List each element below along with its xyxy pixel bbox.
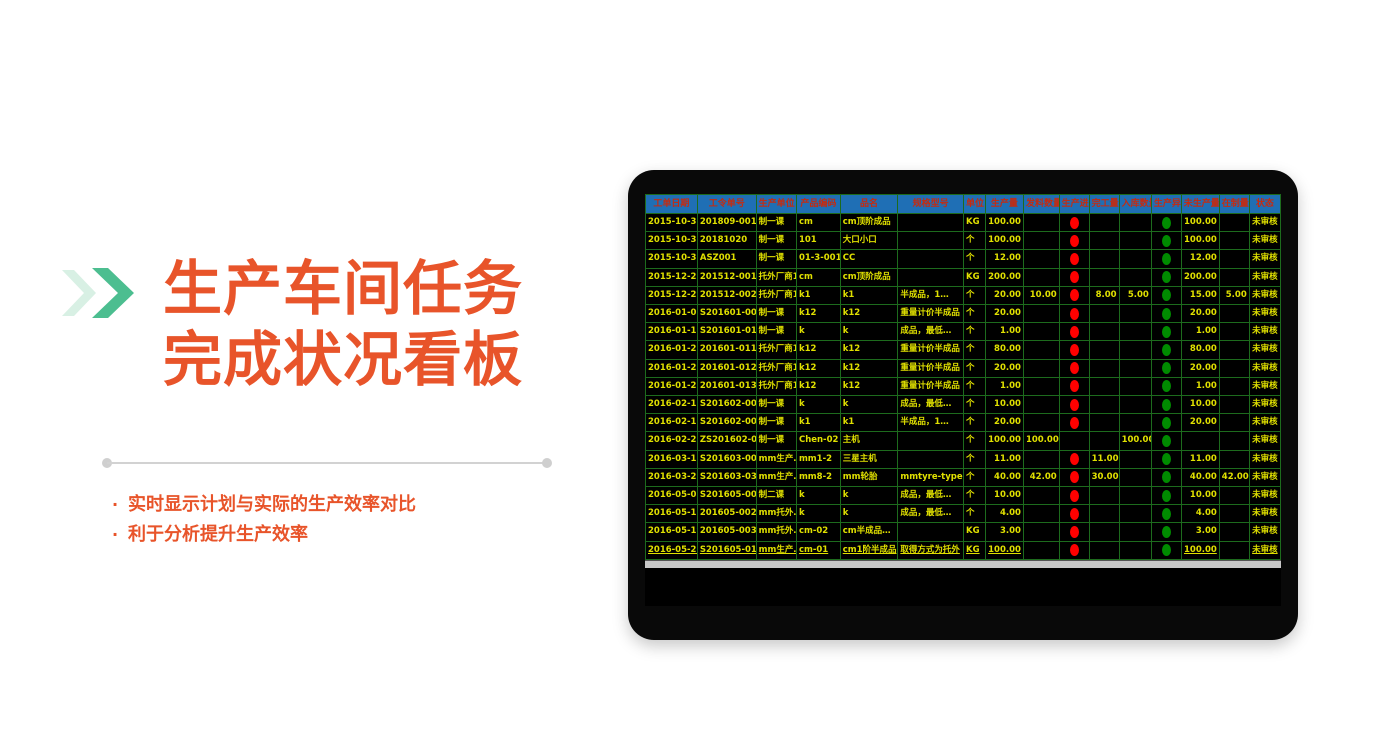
table-row[interactable]: 2015-10-3120181020制一课101大口小口个100.00100.0… — [646, 232, 1281, 250]
cell-unproduced-qty: 100.00 — [1181, 541, 1219, 559]
cell-issued-qty — [1023, 414, 1059, 432]
cell-qty: 200.00 — [985, 268, 1023, 286]
cell-wip-qty — [1219, 323, 1249, 341]
table-row[interactable]: 2016-01-13S201601-011制一课kk成品，最低…个1.001.0… — [646, 323, 1281, 341]
cell-product-name: k12 — [840, 341, 898, 359]
green-lamp-icon — [1162, 435, 1171, 447]
abnormal-lamp-cell — [1151, 396, 1181, 414]
cell-spec: 成品，最低… — [898, 505, 964, 523]
cell-date: 2016-01-25 — [646, 359, 698, 377]
abnormal-lamp-cell — [1151, 541, 1181, 559]
cell-product-code: k12 — [796, 359, 840, 377]
cell-qty: 1.00 — [985, 377, 1023, 395]
cell-unproduced-qty: 20.00 — [1181, 359, 1219, 377]
cell-uom: 个 — [964, 450, 986, 468]
column-header[interactable]: 规格型号 — [898, 195, 964, 214]
cell-product-code: cm-01 — [796, 541, 840, 559]
column-header[interactable]: 工单日期 — [646, 195, 698, 214]
abnormal-lamp-cell — [1151, 286, 1181, 304]
cell-unit: mm托外… — [756, 523, 796, 541]
green-lamp-icon — [1162, 544, 1171, 556]
progress-lamp-cell — [1059, 505, 1089, 523]
cell-product-code: k12 — [796, 377, 840, 395]
table-row[interactable]: 2015-12-25201512-001托外厂商1cmcm顶阶成品KG200.0… — [646, 268, 1281, 286]
red-lamp-icon — [1070, 235, 1079, 247]
cell-issued-qty — [1023, 505, 1059, 523]
cell-stock-qty — [1119, 396, 1151, 414]
cell-wip-qty — [1219, 268, 1249, 286]
cell-unproduced-qty: 4.00 — [1181, 505, 1219, 523]
cell-finished-qty — [1089, 232, 1119, 250]
cell-unit: 制一课 — [756, 214, 796, 232]
cell-wip-qty — [1219, 414, 1249, 432]
cell-order-no: 201605-003 — [697, 523, 756, 541]
cell-uom: 个 — [964, 323, 986, 341]
cell-order-no: S201605-011 — [697, 541, 756, 559]
cell-unproduced-qty: 200.00 — [1181, 268, 1219, 286]
green-lamp-icon — [1162, 235, 1171, 247]
cell-finished-qty — [1089, 214, 1119, 232]
cell-spec — [898, 232, 964, 250]
cell-stock-qty — [1119, 487, 1151, 505]
list-item-label: 利于分析提升生产效率 — [128, 520, 308, 550]
cell-finished-qty — [1089, 523, 1119, 541]
red-lamp-icon — [1070, 253, 1079, 265]
cell-order-no: 201809-001 — [697, 214, 756, 232]
column-header[interactable]: 产品编码 — [796, 195, 840, 214]
cell-product-name: cm顶阶成品 — [840, 268, 898, 286]
table-row[interactable]: 2015-10-31201809-001制一课cmcm顶阶成品KG100.001… — [646, 214, 1281, 232]
cell-unit: 制一课 — [756, 414, 796, 432]
abnormal-lamp-cell — [1151, 468, 1181, 486]
cell-product-name: mm轮胎 — [840, 468, 898, 486]
bullet-icon: · — [112, 490, 128, 520]
bullet-icon: · — [112, 520, 128, 550]
table-row[interactable]: 2016-01-25201601-012托外厂商1k12k12重量计价半成品个2… — [646, 359, 1281, 377]
progress-lamp-cell — [1059, 305, 1089, 323]
cell-issued-qty — [1023, 450, 1059, 468]
green-lamp-icon — [1162, 344, 1171, 356]
cell-date: 2016-02-15 — [646, 414, 698, 432]
cell-uom: 个 — [964, 359, 986, 377]
cell-product-name: cm1阶半成品 — [840, 541, 898, 559]
green-lamp-icon — [1162, 526, 1171, 538]
table-row[interactable]: 2016-02-15S201602-006制一课kk成品，最低…个10.0010… — [646, 396, 1281, 414]
cell-date: 2016-01-08 — [646, 305, 698, 323]
abnormal-lamp-cell — [1151, 214, 1181, 232]
table-row[interactable]: 2016-05-16201605-002mm托外…kk成品，最低…个4.004.… — [646, 505, 1281, 523]
progress-lamp-cell — [1059, 487, 1089, 505]
green-lamp-icon — [1162, 490, 1171, 502]
column-header[interactable]: 生产单位 — [756, 195, 796, 214]
table-row[interactable]: 2016-01-25201601-011托外厂商1k12k12重量计价半成品个8… — [646, 341, 1281, 359]
cell-product-name: k12 — [840, 359, 898, 377]
cell-product-name: 三星主机 — [840, 450, 898, 468]
cell-unit: mm生产… — [756, 541, 796, 559]
progress-lamp-cell — [1059, 377, 1089, 395]
cell-product-code: mm8-2 — [796, 468, 840, 486]
cell-unit: mm托外… — [756, 505, 796, 523]
cell-issued-qty — [1023, 323, 1059, 341]
cell-order-no: 201512-001 — [697, 268, 756, 286]
cell-issued-qty: 10.00 — [1023, 286, 1059, 304]
cell-unit: 制一课 — [756, 432, 796, 450]
cell-product-code: k1 — [796, 414, 840, 432]
cell-product-name: k1 — [840, 286, 898, 304]
column-header[interactable]: 生产异常 — [1151, 195, 1181, 214]
cell-product-code: 01-3-001 — [796, 250, 840, 268]
double-chevron-icon — [62, 266, 140, 320]
cell-unproduced-qty: 100.00 — [1181, 232, 1219, 250]
cell-unit: 托外厂商1 — [756, 359, 796, 377]
cell-qty: 11.00 — [985, 450, 1023, 468]
divider — [102, 458, 552, 468]
cell-finished-qty — [1089, 305, 1119, 323]
cell-qty: 40.00 — [985, 468, 1023, 486]
cell-order-no: 201601-011 — [697, 341, 756, 359]
green-lamp-icon — [1162, 471, 1171, 483]
cell-product-code: Chen-02 — [796, 432, 840, 450]
cell-issued-qty — [1023, 523, 1059, 541]
cell-spec: 成品，最低… — [898, 396, 964, 414]
cell-order-no: 201512-002 — [697, 286, 756, 304]
cell-product-name: k — [840, 323, 898, 341]
cell-product-code: k1 — [796, 286, 840, 304]
cell-finished-qty — [1089, 359, 1119, 377]
abnormal-lamp-cell — [1151, 268, 1181, 286]
cell-stock-qty: 100.00 — [1119, 432, 1151, 450]
red-lamp-icon — [1070, 417, 1079, 429]
cell-spec: 重量计价半成品 — [898, 377, 964, 395]
cell-unit: 托外厂商1 — [756, 377, 796, 395]
cell-uom: 个 — [964, 432, 986, 450]
cell-product-name: cm顶阶成品 — [840, 214, 898, 232]
cell-spec — [898, 214, 964, 232]
cell-stock-qty — [1119, 468, 1151, 486]
abnormal-lamp-cell — [1151, 377, 1181, 395]
cell-date: 2016-02-25 — [646, 432, 698, 450]
cell-stock-qty — [1119, 377, 1151, 395]
cell-unit: 制一课 — [756, 232, 796, 250]
cell-stock-qty — [1119, 450, 1151, 468]
cell-wip-qty — [1219, 487, 1249, 505]
cell-date: 2015-10-31 — [646, 250, 698, 268]
cell-status: 未审核 — [1249, 286, 1280, 304]
cell-status: 未审核 — [1249, 396, 1280, 414]
cell-order-no: S201601-008 — [697, 305, 756, 323]
cell-unit: 制一课 — [756, 305, 796, 323]
cell-issued-qty: 42.00 — [1023, 468, 1059, 486]
cell-qty: 100.00 — [985, 214, 1023, 232]
red-lamp-icon — [1070, 526, 1079, 538]
cell-wip-qty — [1219, 541, 1249, 559]
column-header[interactable]: 工令单号 — [697, 195, 756, 214]
cell-qty: 100.00 — [985, 232, 1023, 250]
cell-product-name: k — [840, 396, 898, 414]
cell-spec: 成品，最低… — [898, 323, 964, 341]
cell-unproduced-qty: 20.00 — [1181, 305, 1219, 323]
cell-spec: 重量计价半成品 — [898, 359, 964, 377]
cell-order-no: 201605-002 — [697, 505, 756, 523]
cell-finished-qty — [1089, 505, 1119, 523]
cell-unproduced-qty: 15.00 — [1181, 286, 1219, 304]
promo-panel: 生产车间任务 完成状况看板 · 实时显示计划与实际的生产效率对比 · 利于分析提… — [0, 0, 620, 753]
red-lamp-icon — [1070, 326, 1079, 338]
cell-uom: 个 — [964, 414, 986, 432]
cell-wip-qty: 42.00 — [1219, 468, 1249, 486]
cell-unproduced-qty — [1181, 432, 1219, 450]
column-header[interactable]: 入库数量 — [1119, 195, 1151, 214]
cell-date: 2016-02-15 — [646, 396, 698, 414]
progress-lamp-cell — [1059, 286, 1089, 304]
cell-uom: 个 — [964, 286, 986, 304]
cell-stock-qty — [1119, 214, 1151, 232]
cell-wip-qty — [1219, 450, 1249, 468]
red-lamp-icon — [1070, 344, 1079, 356]
table-row[interactable]: 2016-01-25201601-013托外厂商1k12k12重量计价半成品个1… — [646, 377, 1281, 395]
cell-issued-qty — [1023, 359, 1059, 377]
red-lamp-icon — [1070, 217, 1079, 229]
cell-product-code: cm — [796, 214, 840, 232]
green-lamp-icon — [1162, 417, 1171, 429]
cell-wip-qty — [1219, 432, 1249, 450]
column-header[interactable]: 生产进度 — [1059, 195, 1089, 214]
column-header[interactable]: 在制量 — [1219, 195, 1249, 214]
cell-stock-qty — [1119, 323, 1151, 341]
table-row[interactable]: 2016-02-15S201602-007制一课k1k1半成品，1…个20.00… — [646, 414, 1281, 432]
column-header[interactable]: 发料数量 — [1023, 195, 1059, 214]
cell-finished-qty — [1089, 268, 1119, 286]
column-header[interactable]: 状态 — [1249, 195, 1280, 214]
cell-product-code: mm1-2 — [796, 450, 840, 468]
table-row[interactable]: 2016-05-06S201605-008制二课kk成品，最低…个10.0010… — [646, 487, 1281, 505]
red-lamp-icon — [1070, 362, 1079, 374]
cell-date: 2016-01-13 — [646, 323, 698, 341]
abnormal-lamp-cell — [1151, 523, 1181, 541]
cell-finished-qty — [1089, 487, 1119, 505]
cell-product-name: k12 — [840, 377, 898, 395]
cell-status: 未审核 — [1249, 414, 1280, 432]
cell-status: 未审核 — [1249, 541, 1280, 559]
cell-stock-qty — [1119, 250, 1151, 268]
green-lamp-icon — [1162, 453, 1171, 465]
cell-wip-qty — [1219, 359, 1249, 377]
cell-qty: 12.00 — [985, 250, 1023, 268]
cell-unproduced-qty: 12.00 — [1181, 250, 1219, 268]
cell-uom: 个 — [964, 341, 986, 359]
cell-unit: 制一课 — [756, 323, 796, 341]
cell-date: 2016-05-19 — [646, 523, 698, 541]
green-lamp-icon — [1162, 362, 1171, 374]
cell-order-no: 20181020 — [697, 232, 756, 250]
green-lamp-icon — [1162, 308, 1171, 320]
table-body: 2015-10-31201809-001制一课cmcm顶阶成品KG100.001… — [646, 214, 1281, 560]
abnormal-lamp-cell — [1151, 432, 1181, 450]
table-row[interactable]: 2015-10-31ASZ001制一课01-3-001CC个12.0012.00… — [646, 250, 1281, 268]
cell-issued-qty — [1023, 377, 1059, 395]
chevron-right-icon — [62, 266, 140, 320]
cell-order-no: S201605-008 — [697, 487, 756, 505]
cell-date: 2015-12-29 — [646, 286, 698, 304]
cell-order-no: 201601-012 — [697, 359, 756, 377]
cell-status: 未审核 — [1249, 214, 1280, 232]
progress-lamp-cell — [1059, 468, 1089, 486]
abnormal-lamp-cell — [1151, 232, 1181, 250]
cell-wip-qty — [1219, 250, 1249, 268]
cell-finished-qty: 11.00 — [1089, 450, 1119, 468]
cell-uom: KG — [964, 268, 986, 286]
cell-unproduced-qty: 100.00 — [1181, 214, 1219, 232]
cell-product-name: k — [840, 505, 898, 523]
cell-product-name: 主机 — [840, 432, 898, 450]
cell-unproduced-qty: 20.00 — [1181, 414, 1219, 432]
feature-list: · 实时显示计划与实际的生产效率对比 · 利于分析提升生产效率 — [112, 490, 582, 550]
cell-product-code: k12 — [796, 305, 840, 323]
abnormal-lamp-cell — [1151, 250, 1181, 268]
tablet-device-frame: 工单日期工令单号生产单位产品编码品名规格型号单位生产量发料数量生产进度完工量入库… — [628, 170, 1298, 640]
cell-status: 未审核 — [1249, 523, 1280, 541]
cell-order-no: S201602-006 — [697, 396, 756, 414]
cell-wip-qty — [1219, 305, 1249, 323]
cell-unit: mm生产… — [756, 450, 796, 468]
red-lamp-icon — [1070, 289, 1079, 301]
progress-lamp-cell — [1059, 432, 1089, 450]
column-header[interactable]: 完工量 — [1089, 195, 1119, 214]
progress-lamp-cell — [1059, 541, 1089, 559]
cell-date: 2015-10-31 — [646, 214, 698, 232]
table-row[interactable]: 2016-02-25ZS201602-004制一课Chen-02主机个100.0… — [646, 432, 1281, 450]
cell-wip-qty — [1219, 341, 1249, 359]
cell-spec: 取得方式为托外 — [898, 541, 964, 559]
cell-spec — [898, 250, 964, 268]
green-lamp-icon — [1162, 380, 1171, 392]
red-lamp-icon — [1070, 490, 1079, 502]
cell-date: 2015-12-25 — [646, 268, 698, 286]
cell-product-code: 101 — [796, 232, 840, 250]
table-row[interactable]: 2016-03-18S201603-006mm生产…mm1-2三星主机个11.0… — [646, 450, 1281, 468]
cell-wip-qty: 5.00 — [1219, 286, 1249, 304]
cell-stock-qty — [1119, 359, 1151, 377]
cell-order-no: ASZ001 — [697, 250, 756, 268]
cell-uom: 个 — [964, 377, 986, 395]
progress-lamp-cell — [1059, 359, 1089, 377]
table-header-row: 工单日期工令单号生产单位产品编码品名规格型号单位生产量发料数量生产进度完工量入库… — [646, 195, 1281, 214]
green-lamp-icon — [1162, 271, 1171, 283]
horizontal-scrollbar[interactable] — [645, 560, 1281, 568]
cell-product-code: k — [796, 505, 840, 523]
progress-lamp-cell — [1059, 341, 1089, 359]
cell-uom: KG — [964, 523, 986, 541]
column-header[interactable]: 单位 — [964, 195, 986, 214]
cell-spec: 重量计价半成品 — [898, 341, 964, 359]
cell-issued-qty — [1023, 268, 1059, 286]
production-dashboard-table: 工单日期工令单号生产单位产品编码品名规格型号单位生产量发料数量生产进度完工量入库… — [645, 194, 1281, 560]
cell-uom: 个 — [964, 505, 986, 523]
cell-status: 未审核 — [1249, 323, 1280, 341]
page-title: 生产车间任务 完成状况看板 — [163, 254, 603, 396]
cell-finished-qty — [1089, 414, 1119, 432]
cell-finished-qty — [1089, 341, 1119, 359]
green-lamp-icon — [1162, 399, 1171, 411]
cell-wip-qty — [1219, 396, 1249, 414]
abnormal-lamp-cell — [1151, 450, 1181, 468]
divider-bar — [107, 462, 547, 464]
cell-uom: 个 — [964, 232, 986, 250]
cell-stock-qty — [1119, 414, 1151, 432]
cell-status: 未审核 — [1249, 341, 1280, 359]
cell-spec: 重量计价半成品 — [898, 305, 964, 323]
cell-stock-qty — [1119, 541, 1151, 559]
cell-spec — [898, 450, 964, 468]
progress-lamp-cell — [1059, 414, 1089, 432]
cell-status: 未审核 — [1249, 232, 1280, 250]
green-lamp-icon — [1162, 508, 1171, 520]
cell-unit: 制一课 — [756, 396, 796, 414]
cell-qty: 10.00 — [985, 396, 1023, 414]
cell-stock-qty — [1119, 305, 1151, 323]
table-row[interactable]: 2016-05-23S201605-011mm生产…cm-01cm1阶半成品取得… — [646, 541, 1281, 559]
column-header[interactable]: 生产量 — [985, 195, 1023, 214]
cell-status: 未审核 — [1249, 468, 1280, 486]
cell-issued-qty — [1023, 396, 1059, 414]
column-header[interactable]: 品名 — [840, 195, 898, 214]
cell-date: 2016-01-25 — [646, 377, 698, 395]
cell-order-no: 201601-013 — [697, 377, 756, 395]
green-lamp-icon — [1162, 326, 1171, 338]
table-row[interactable]: 2015-12-29201512-002托外厂商1k1k1半成品，1…个20.0… — [646, 286, 1281, 304]
cell-spec: 半成品，1… — [898, 414, 964, 432]
cell-product-name: k — [840, 487, 898, 505]
cell-wip-qty — [1219, 377, 1249, 395]
cell-product-name: k12 — [840, 305, 898, 323]
cell-date: 2016-03-18 — [646, 450, 698, 468]
cell-qty: 20.00 — [985, 286, 1023, 304]
cell-spec — [898, 523, 964, 541]
cell-product-code: k — [796, 396, 840, 414]
cell-product-code: k — [796, 323, 840, 341]
cell-order-no: S201601-011 — [697, 323, 756, 341]
progress-lamp-cell — [1059, 250, 1089, 268]
cell-status: 未审核 — [1249, 450, 1280, 468]
cell-order-no: ZS201602-004 — [697, 432, 756, 450]
red-lamp-icon — [1070, 380, 1079, 392]
table-row[interactable]: 2016-03-25S201603-037mm生产…mm8-2mm轮胎mmtyr… — [646, 468, 1281, 486]
table-row[interactable]: 2016-01-08S201601-008制一课k12k12重量计价半成品个20… — [646, 305, 1281, 323]
cell-finished-qty — [1089, 377, 1119, 395]
cell-qty: 20.00 — [985, 414, 1023, 432]
cell-finished-qty — [1089, 396, 1119, 414]
cell-uom: 个 — [964, 250, 986, 268]
table-row[interactable]: 2016-05-19201605-003mm托外…cm-02cm半成品…KG3.… — [646, 523, 1281, 541]
tablet-screen: 工单日期工令单号生产单位产品编码品名规格型号单位生产量发料数量生产进度完工量入库… — [645, 194, 1281, 606]
empty-lamp-icon — [1070, 435, 1079, 447]
progress-lamp-cell — [1059, 450, 1089, 468]
cell-product-name: k1 — [840, 414, 898, 432]
abnormal-lamp-cell — [1151, 359, 1181, 377]
cell-order-no: S201603-037 — [697, 468, 756, 486]
column-header[interactable]: 未生产量 — [1181, 195, 1219, 214]
cell-date: 2016-05-06 — [646, 487, 698, 505]
cell-uom: KG — [964, 214, 986, 232]
cell-unit: 制二课 — [756, 487, 796, 505]
cell-issued-qty — [1023, 232, 1059, 250]
cell-issued-qty — [1023, 341, 1059, 359]
cell-qty: 10.00 — [985, 487, 1023, 505]
cell-spec: 成品，最低… — [898, 487, 964, 505]
cell-finished-qty — [1089, 323, 1119, 341]
cell-unproduced-qty: 10.00 — [1181, 487, 1219, 505]
list-item: · 利于分析提升生产效率 — [112, 520, 582, 550]
